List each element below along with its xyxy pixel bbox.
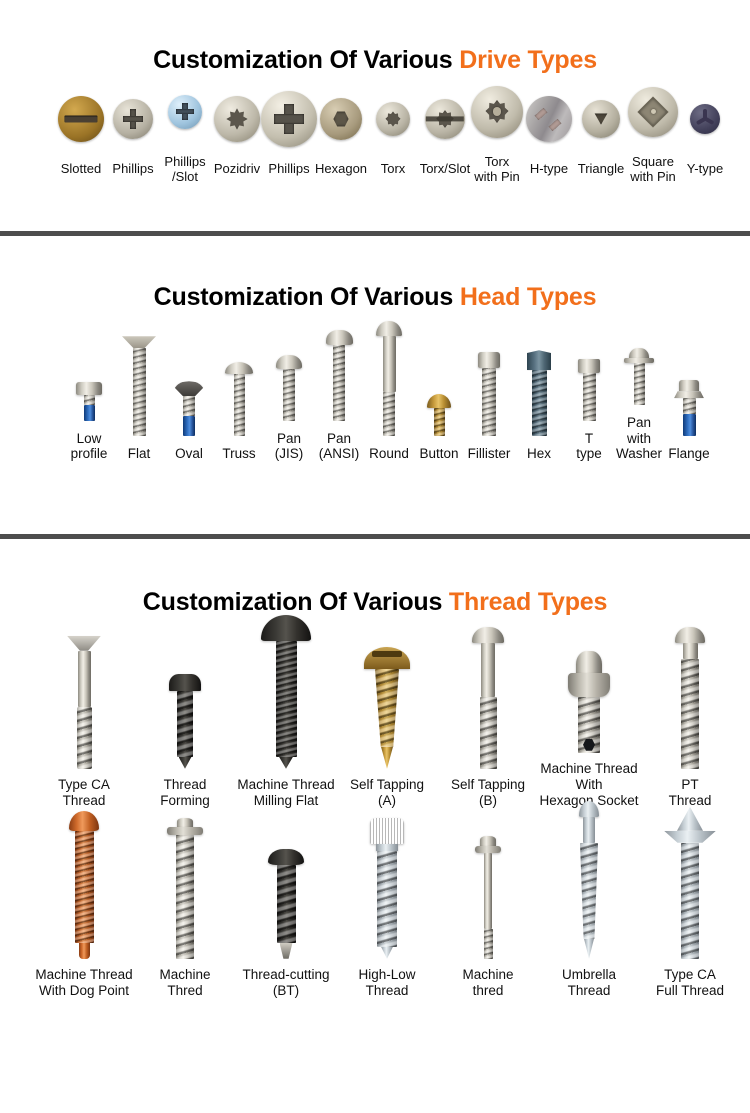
machine-thread-shank (176, 835, 194, 959)
thread-locker-patch (183, 416, 195, 436)
thread-item-machine-thread-hexagon-socket: Machine Thread With Hexagon Socket (539, 583, 640, 809)
head-art-fillister (478, 306, 500, 436)
button-head-icon (69, 811, 99, 831)
drive-art-triangle (582, 83, 620, 155)
machine-thread-shank (484, 929, 493, 959)
hexagon-socket-icon (583, 739, 595, 751)
security-pin-icon (493, 107, 501, 115)
head-art-t-type (578, 291, 600, 421)
h-type-recess-icon (549, 119, 562, 131)
flange-head-icon (679, 380, 699, 391)
thread-label-machine-thred: Machine Thred (159, 967, 210, 999)
drive-art-phillips-1 (113, 83, 153, 155)
plain-shank (484, 853, 492, 929)
socket-collar-icon (568, 673, 610, 697)
plain-shank (583, 817, 595, 843)
pan-head-icon (177, 818, 193, 827)
drive-art-torx-slot (425, 83, 465, 155)
drive-art-slotted (58, 83, 104, 155)
thread-cutting-shank (277, 865, 296, 943)
head-item-fillister: Fillister (464, 306, 514, 462)
drive-item-phillips-1: Phillips (107, 83, 159, 176)
head-label-low-profile: Low profile (64, 431, 114, 462)
sharp-point-icon (381, 747, 393, 769)
pan-head-icon (169, 674, 201, 691)
thread-art-machine-thread-hexagon-socket (568, 583, 610, 753)
slot-recess-icon (64, 116, 97, 123)
thread-item-high-low-thread: High-Low Thread (337, 787, 438, 999)
thread-item-type-ca-full-thread: Type CA Full Thread (640, 787, 741, 999)
thread-label-machine-thread-dog-point: Machine Thread With Dog Point (35, 967, 132, 999)
drive-item-square-with-pin: Square with Pin (627, 76, 679, 184)
head-label-flange: Flange (668, 446, 709, 462)
head-art-pan-jis (276, 291, 302, 421)
high-low-thread-shank (377, 851, 397, 947)
head-item-flange: Flange (664, 306, 714, 462)
umbrella-thread-shank (580, 843, 598, 939)
drive-label-y-type: Y-type (687, 161, 723, 176)
hex-recess-icon (333, 111, 348, 126)
sharp-point-icon (584, 939, 594, 959)
round-head-icon (376, 321, 402, 336)
head-label-pan-ansi: Pan (ANSI) (319, 431, 360, 462)
plain-shank (481, 643, 495, 697)
dog-point-icon (79, 943, 90, 959)
drive-art-h-type (526, 83, 572, 155)
washer-icon (475, 846, 501, 853)
threaded-shank (283, 369, 295, 421)
thread-art-machine-thred (167, 787, 203, 959)
thread-item-type-ca-thread: Type CA Thread (34, 599, 135, 809)
drive-label-square-with-pin: Square with Pin (630, 154, 676, 184)
phillips-head-icon (261, 91, 317, 147)
drive-label-pozidriv: Pozidriv (214, 161, 260, 176)
threaded-shank (333, 345, 345, 421)
drive-specimen-row: Slotted Phillips Phill (0, 94, 750, 166)
head-specimen-row: Low profile Flat (0, 332, 750, 462)
section-head-types: Customization Of Various Head Types Low … (0, 236, 750, 534)
drive-art-phillips-2 (261, 83, 317, 155)
thread-art-self-tapping-b (472, 599, 504, 769)
thread-forming-shank (177, 691, 193, 757)
infographic-page: Customization Of Various Drive Types Slo… (0, 0, 750, 1113)
milling-flat-shank (276, 641, 297, 757)
pt-thread-shank (681, 659, 699, 769)
head-art-flat (122, 306, 156, 436)
screw-point-icon (381, 947, 393, 959)
threaded-shank (183, 396, 195, 416)
threaded-shank (532, 370, 547, 436)
head-item-low-profile: Low profile (64, 291, 114, 462)
plain-shank (78, 651, 91, 707)
head-item-round: Round (364, 306, 414, 462)
drive-label-torx-slot: Torx/Slot (420, 161, 471, 176)
thread-label-type-ca-full-thread: Type CA Full Thread (656, 967, 724, 999)
drive-label-torx-with-pin: Torx with Pin (474, 154, 520, 184)
drive-art-y-type (690, 83, 720, 155)
threaded-shank (482, 368, 496, 436)
thread-label-umbrella-thread: Umbrella Thread (562, 967, 616, 999)
head-art-round (376, 306, 402, 436)
phillips-head-icon (113, 99, 153, 139)
thread-art-type-ca-thread (67, 599, 101, 769)
full-thread-shank (681, 843, 699, 959)
head-label-truss: Truss (222, 446, 255, 462)
head-item-pan-with-washer: Pan with Washer (614, 275, 664, 462)
thread-locker-patch (84, 405, 95, 421)
head-label-round: Round (369, 446, 409, 462)
wafer-head-icon (268, 849, 304, 865)
threaded-shank (634, 363, 645, 405)
screw-point-icon (179, 757, 192, 769)
thread-art-high-low-thread (370, 787, 404, 959)
threaded-shank (683, 398, 696, 414)
head-item-truss: Truss (214, 306, 264, 462)
head-item-t-type: T type (564, 291, 614, 462)
fillister-head-icon (478, 352, 500, 368)
torx-recess-icon (385, 111, 401, 127)
head-label-pan-jis: Pan (JIS) (275, 431, 304, 462)
torx-slot-head-icon (425, 99, 465, 139)
drive-art-phillips-slot (168, 76, 202, 148)
thread-art-self-tapping-a (364, 599, 410, 769)
drive-label-slotted: Slotted (61, 161, 101, 176)
section-thread-types: Customization Of Various Thread Types Ty… (0, 539, 750, 1113)
thread-item-self-tapping-b: Self Tapping (B) (438, 599, 539, 809)
drive-item-torx: Torx (367, 83, 419, 176)
thread-art-umbrella-thread (579, 787, 599, 959)
cross-recess-icon (274, 114, 303, 124)
self-tapping-shank (480, 697, 497, 769)
drive-art-torx (376, 83, 410, 155)
threaded-shank (133, 348, 146, 436)
y-type-recess-icon (696, 117, 706, 125)
square-pin-head-icon (628, 87, 678, 137)
oval-head-icon (174, 381, 204, 396)
thread-label-thread-cutting-bt: Thread-cutting (BT) (242, 967, 329, 999)
drive-item-torx-slot: Torx/Slot (419, 83, 471, 176)
flange-skirt-icon (664, 831, 716, 843)
drive-label-hexagon: Hexagon (315, 161, 367, 176)
thread-art-machine-thread-dog-point (69, 787, 99, 959)
drive-label-phillips-1: Phillips (112, 161, 153, 176)
head-art-hex (527, 306, 551, 436)
shank (84, 395, 95, 405)
thread-specimen-row-1: Type CA Thread Thread Forming (0, 639, 750, 809)
threaded-shank (434, 408, 445, 436)
slot-recess-icon (426, 116, 464, 121)
round-head-icon (261, 615, 311, 641)
pozidriv-head-icon (214, 96, 260, 142)
drive-title-prefix: Customization Of Various (153, 46, 452, 74)
drive-item-phillips-slot: Phillips /Slot (159, 76, 211, 184)
head-item-hex: Hex (514, 306, 564, 462)
t-type-head-icon (578, 359, 600, 373)
thread-art-type-ca-full-thread (664, 787, 716, 959)
triangle-head-icon (582, 100, 620, 138)
drive-section-title: Customization Of Various Drive Types (0, 21, 750, 73)
y-type-head-icon (690, 104, 720, 134)
drive-art-square-with-pin (628, 76, 678, 148)
head-art-truss (225, 306, 253, 436)
threaded-shank (383, 392, 395, 436)
h-type-recess-icon (535, 107, 548, 119)
thread-art-thread-cutting-bt (268, 787, 304, 959)
head-label-flat: Flat (128, 446, 151, 462)
cutting-tip-icon (280, 943, 293, 959)
button-head-icon (427, 394, 451, 408)
oval-slotted-head-icon (364, 647, 410, 669)
threaded-shank (234, 374, 245, 436)
drive-item-torx-with-pin: Torx with Pin (471, 76, 523, 184)
cone-head-icon (677, 807, 703, 831)
plain-shank (683, 643, 698, 659)
cross-recess-icon (176, 109, 194, 115)
head-art-flange (674, 306, 704, 436)
drive-art-hexagon (320, 83, 362, 155)
cross-recess-icon (123, 116, 144, 123)
security-pin-icon (651, 109, 656, 114)
drive-label-phillips-slot: Phillips /Slot (164, 154, 205, 184)
drive-label-phillips-2: Phillips (268, 161, 309, 176)
head-art-low-profile (76, 291, 102, 421)
h-type-head-icon (526, 96, 572, 142)
umbrella-head-icon (579, 801, 599, 817)
hexagon-head-icon (320, 98, 362, 140)
drive-item-slotted: Slotted (55, 83, 107, 176)
button-head-icon (675, 627, 705, 643)
thread-locker-patch (683, 414, 696, 436)
thread-art-machine-thread-milling-flat (261, 599, 311, 769)
thread-item-thread-forming: Thread Forming (135, 599, 236, 809)
head-label-pan-with-washer: Pan with Washer (614, 415, 664, 462)
head-item-pan-jis: Pan (JIS) (264, 291, 314, 462)
drive-item-pozidriv: Pozidriv (211, 83, 263, 176)
drive-label-triangle: Triangle (578, 161, 624, 176)
thread-art-pt-thread (675, 599, 705, 769)
drive-item-y-type: Y-type (679, 83, 731, 176)
slot-recess-icon (372, 651, 401, 657)
thread-art-thread-forming (169, 599, 201, 769)
head-art-oval (174, 306, 204, 436)
section-drive-types: Customization Of Various Drive Types Slo… (0, 0, 750, 231)
low-profile-head-icon (76, 382, 102, 395)
thread-item-machine-thred-2: Machine thred (438, 787, 539, 999)
pan-head-icon (480, 836, 496, 846)
button-head-icon (472, 627, 504, 643)
drive-art-pozidriv (214, 83, 260, 155)
thread-item-machine-thred: Machine Thred (135, 787, 236, 999)
slotted-head-icon (58, 96, 104, 142)
head-art-button (427, 306, 451, 436)
threaded-shank (583, 373, 596, 421)
screw-point-icon (279, 757, 293, 769)
thread-label-machine-thred-2: Machine thred (462, 967, 513, 999)
head-art-pan-ansi (326, 291, 353, 421)
thread-art-machine-thred-2 (475, 787, 501, 959)
machine-thread-shank (75, 831, 94, 943)
head-item-pan-ansi: Pan (ANSI) (314, 291, 364, 462)
pan-head-icon (326, 330, 353, 345)
head-label-fillister: Fillister (468, 446, 511, 462)
triangle-recess-icon (595, 113, 608, 124)
torx-pin-head-icon (471, 86, 523, 138)
washer-icon (167, 827, 203, 835)
torx-head-icon (376, 102, 410, 136)
self-tapping-shank (375, 669, 399, 747)
thread-item-self-tapping-a: Self Tapping (A) (337, 599, 438, 809)
thread-item-thread-cutting-bt: Thread-cutting (BT) (236, 787, 337, 999)
drive-label-torx: Torx (381, 161, 406, 176)
thread-item-pt-thread: PT Thread (640, 599, 741, 809)
head-item-flat: Flat (114, 306, 164, 462)
thread-item-machine-thread-dog-point: Machine Thread With Dog Point (34, 787, 135, 999)
drive-label-h-type: H-type (530, 161, 568, 176)
thread-specimen-row-2: Machine Thread With Dog Point Machine Th… (0, 827, 750, 999)
knurled-head-icon (370, 818, 404, 844)
head-label-oval: Oval (175, 446, 203, 462)
flange-skirt-icon (674, 391, 704, 398)
drive-title-accent: Drive Types (459, 46, 597, 74)
hex-head-icon (527, 350, 551, 370)
drive-item-h-type: H-type (523, 83, 575, 176)
flat-head-icon (67, 636, 101, 651)
head-label-hex: Hex (527, 446, 551, 462)
drive-art-torx-with-pin (471, 76, 523, 148)
socket-thread-shank (578, 697, 600, 753)
head-label-button: Button (419, 446, 458, 462)
pan-head-icon (276, 355, 302, 369)
drive-item-hexagon: Hexagon (315, 83, 367, 176)
coarse-thread-shank (77, 707, 92, 769)
drive-item-phillips-2: Phillips (263, 83, 315, 176)
thread-item-umbrella-thread: Umbrella Thread (539, 787, 640, 999)
flat-countersunk-head-icon (122, 336, 156, 348)
head-item-button: Button (414, 306, 464, 462)
drive-item-triangle: Triangle (575, 83, 627, 176)
pozidriv-recess-icon (226, 108, 247, 129)
plain-shank (383, 336, 396, 392)
thread-item-machine-thread-milling-flat: Machine Thread Milling Flat (236, 599, 337, 809)
head-item-oval: Oval (164, 306, 214, 462)
head-neck-icon (376, 844, 398, 851)
truss-head-icon (225, 362, 253, 374)
head-label-t-type: T type (576, 431, 602, 462)
socket-head-icon (576, 651, 602, 673)
phillips-slot-head-icon (168, 95, 202, 129)
head-art-pan-with-washer (624, 275, 654, 405)
thread-label-high-low-thread: High-Low Thread (358, 967, 415, 999)
